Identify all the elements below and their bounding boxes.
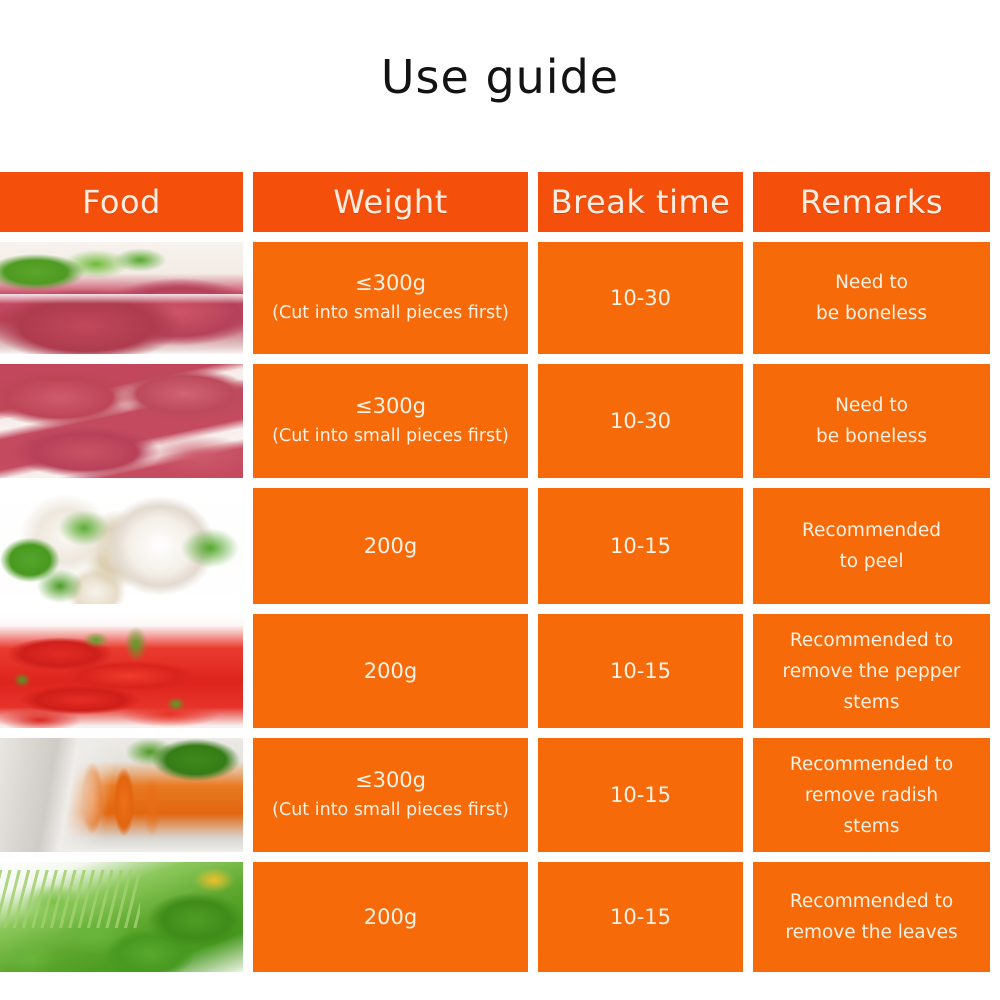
column-header-remarks: Remarks — [753, 172, 990, 232]
weight-cell: ≤300g (Cut into small pieces first) — [253, 738, 528, 852]
remarks-cell: Need to be boneless — [753, 242, 990, 354]
remarks-cell: Recommended to remove radish stems — [753, 738, 990, 852]
page-title: Use guide — [0, 50, 1000, 104]
remarks-cell: Recommended to remove the leaves — [753, 862, 990, 972]
weight-note: (Cut into small pieces first) — [272, 795, 509, 825]
use-guide-page: Use guide Food Weight Break time Remarks… — [0, 0, 1000, 1000]
column-gutter — [243, 488, 253, 604]
row-gutter — [0, 354, 992, 364]
weight-value: ≤300g — [355, 268, 426, 298]
weight-note: (Cut into small pieces first) — [272, 298, 509, 328]
column-gutter — [243, 862, 253, 972]
column-gutter — [528, 738, 538, 852]
remarks-line: remove radish — [805, 780, 938, 811]
column-gutter — [243, 364, 253, 478]
weight-cell: 200g — [253, 614, 528, 728]
column-gutter — [743, 738, 753, 852]
food-thumbnail-chili-pepper — [0, 614, 243, 728]
break-time-cell: 10-15 — [538, 738, 743, 852]
food-thumbnail-carrot — [0, 738, 243, 852]
remarks-line: Need to — [835, 390, 908, 421]
break-time-cell: 10-15 — [538, 488, 743, 604]
remarks-line: Recommended to — [790, 886, 953, 917]
remarks-cell: Need to be boneless — [753, 364, 990, 478]
row-gutter — [0, 728, 992, 738]
weight-cell: 200g — [253, 862, 528, 972]
weight-note: (Cut into small pieces first) — [272, 421, 509, 451]
row-gutter — [0, 604, 992, 614]
remarks-line: remove the leaves — [785, 917, 957, 948]
remarks-line: to peel — [839, 546, 903, 577]
column-gutter — [243, 172, 253, 232]
weight-cell: ≤300g (Cut into small pieces first) — [253, 364, 528, 478]
weight-value: ≤300g — [355, 391, 426, 421]
table-row: 200g 10-15 Recommended to remove the lea… — [0, 862, 992, 972]
table-row: ≤300g (Cut into small pieces first) 10-3… — [0, 364, 992, 478]
food-thumbnail-garlic — [0, 488, 243, 604]
column-gutter — [243, 738, 253, 852]
row-gutter — [0, 478, 992, 488]
table-row: ≤300g (Cut into small pieces first) 10-3… — [0, 242, 992, 354]
row-gutter — [0, 232, 992, 242]
food-thumbnail-cilantro — [0, 862, 243, 972]
food-thumbnail-beef — [0, 242, 243, 354]
column-gutter — [528, 364, 538, 478]
column-header-weight: Weight — [253, 172, 528, 232]
weight-value: 200g — [364, 531, 417, 561]
weight-cell: 200g — [253, 488, 528, 604]
table-header-row: Food Weight Break time Remarks — [0, 172, 992, 232]
column-gutter — [528, 242, 538, 354]
column-gutter — [528, 488, 538, 604]
remarks-line: be boneless — [816, 421, 927, 452]
column-gutter — [528, 172, 538, 232]
weight-cell: ≤300g (Cut into small pieces first) — [253, 242, 528, 354]
remarks-line: remove the pepper — [783, 656, 961, 687]
column-gutter — [743, 242, 753, 354]
break-time-cell: 10-30 — [538, 242, 743, 354]
remarks-line: Recommended to — [790, 625, 953, 656]
column-gutter — [528, 614, 538, 728]
remarks-line: Recommended — [802, 515, 941, 546]
weight-value: 200g — [364, 656, 417, 686]
table-row: 200g 10-15 Recommended to remove the pep… — [0, 614, 992, 728]
column-gutter — [743, 488, 753, 604]
column-gutter — [243, 614, 253, 728]
remarks-cell: Recommended to remove the pepper stems — [753, 614, 990, 728]
column-gutter — [743, 364, 753, 478]
column-gutter — [743, 614, 753, 728]
table-row: 200g 10-15 Recommended to peel — [0, 488, 992, 604]
remarks-line: be boneless — [816, 298, 927, 329]
column-gutter — [528, 862, 538, 972]
remarks-cell: Recommended to peel — [753, 488, 990, 604]
column-gutter — [243, 242, 253, 354]
table-row: ≤300g (Cut into small pieces first) 10-1… — [0, 738, 992, 852]
break-time-cell: 10-15 — [538, 862, 743, 972]
column-header-break-time: Break time — [538, 172, 743, 232]
break-time-cell: 10-15 — [538, 614, 743, 728]
food-thumbnail-pork — [0, 364, 243, 478]
weight-value: ≤300g — [355, 765, 426, 795]
column-header-food: Food — [0, 172, 243, 232]
weight-value: 200g — [364, 902, 417, 932]
column-gutter — [743, 862, 753, 972]
break-time-cell: 10-30 — [538, 364, 743, 478]
row-gutter — [0, 852, 992, 862]
remarks-line: stems — [844, 811, 900, 842]
remarks-line: Recommended to — [790, 749, 953, 780]
column-gutter — [743, 172, 753, 232]
remarks-line: Need to — [835, 267, 908, 298]
remarks-line: stems — [844, 687, 900, 718]
use-guide-table: Food Weight Break time Remarks ≤300g (Cu… — [0, 172, 992, 972]
